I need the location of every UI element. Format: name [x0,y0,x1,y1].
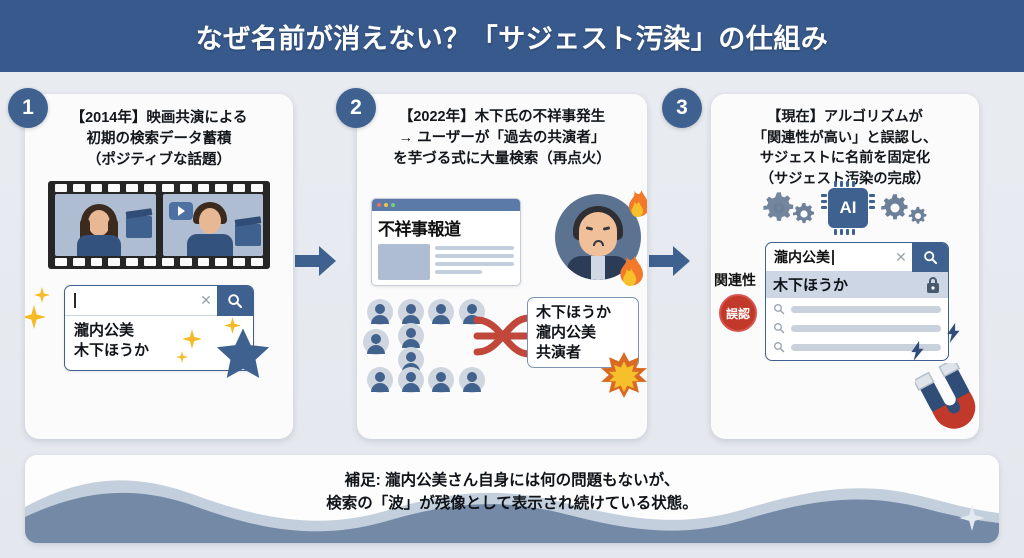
step-badge-2: 2 [336,88,376,128]
person-icon [367,299,393,325]
spark-bolt-icon [947,323,961,343]
person-icon [363,329,389,355]
lock-icon [925,276,941,294]
panel-3-title: 【現在】アルゴリズムが 「関連性が高い」と誤認し、 サジェストに名前を固定化 （… [711,94,979,189]
flame-icon [609,254,643,300]
person-icon [367,367,393,393]
explosion-icon [601,352,647,398]
arrow-step1-to-step2 [293,244,339,278]
person-icon [398,299,424,325]
locked-suggestion-text: 木下ほうか [773,274,848,295]
ai-chip-icon: AI [828,188,868,228]
user-icons-grid [367,299,485,393]
sparkle-icon [959,505,985,531]
clear-icon[interactable]: ✕ [195,292,217,309]
footer-note-card: 補足: 瀧内公美さん自身には何の問題もないが、 検索の「波」が残像として表示され… [25,455,999,543]
person-icon [398,323,424,349]
footer-note-text: 補足: 瀧内公美さん自身には何の問題もないが、 検索の「波」が残像として表示され… [25,469,999,516]
spark-bolt-icon [911,341,925,361]
panel-1-title: 【2014年】映画共演による 初期の検索データ蓄積 （ポジティブな話題） [25,94,293,171]
panel-2-title: 【2022年】木下氏の不祥事発生 → ユーザーが「過去の共演者」 を芋づる式に大… [357,94,647,170]
star-icon [210,323,276,387]
news-headline: 不祥事報道 [372,211,520,242]
placeholder-row[interactable] [773,303,941,315]
search-input-1[interactable] [65,293,195,308]
search-icon [773,322,785,334]
ai-chip-label: AI [840,198,857,218]
step-badge-1: 1 [8,88,48,128]
panel-step-2[interactable]: 【2022年】木下氏の不祥事発生 → ユーザーが「過去の共演者」 を芋づる式に大… [357,94,647,439]
panel-step-3[interactable]: 【現在】アルゴリズムが 「関連性が高い」と誤認し、 サジェストに名前を固定化 （… [711,94,979,439]
placeholder-row[interactable] [773,322,941,334]
ai-algorithm-graphic: AI [711,188,979,228]
panel-row: 【2014年】映画共演による 初期の検索データ蓄積 （ポジティブな話題） [0,88,1024,444]
search-icon[interactable] [217,286,253,316]
sparkle-icon [224,317,241,334]
misrecognition-badge: 誤認 [719,294,757,332]
person-icon [428,367,454,393]
page-title: なぜ名前が消えない？「サジェスト汚染」の仕組み [196,17,829,56]
panel-step-1[interactable]: 【2014年】映画共演による 初期の検索データ蓄積 （ポジティブな話題） [25,94,293,439]
search-input-3[interactable]: 瀧内公美 [766,247,890,267]
person-icon [428,299,454,325]
step-badge-3: 3 [662,88,702,128]
arrow-step2-to-step3 [647,244,693,278]
gear-icon [762,191,796,225]
name-item: 瀧内公美 [536,323,630,343]
text-caret [832,250,834,265]
clear-icon[interactable]: ✕ [890,249,912,266]
news-thumbnail [378,244,430,280]
sparkle-icon [182,329,202,349]
film-frame-actor [163,194,264,256]
text-caret [74,293,76,308]
news-card: 不祥事報道 [371,198,521,286]
gear-icon [792,202,816,226]
locked-suggestion-row[interactable]: 木下ほうか [766,271,948,298]
search-icon[interactable] [912,242,948,272]
window-titlebar [372,199,520,211]
news-text-lines [435,244,514,280]
relevance-label: 関連性 [714,270,756,290]
search-icon [773,341,785,353]
header-band: なぜ名前が消えない？「サジェスト汚染」の仕組み [0,0,1024,72]
sparkle-icon [25,305,46,329]
film-strip-icon [48,181,270,269]
search-input-3-value: 瀧内公美 [774,247,830,267]
film-frame-actress [55,194,156,256]
flame-icon [619,190,647,228]
sparkle-icon [176,351,188,363]
magnet-icon [915,363,979,433]
search-icon [773,303,785,315]
gear-icon [908,206,928,226]
sparkle-icon [34,287,50,303]
search-widget-1[interactable]: ✕ 瀧内公美 木下ほうか [64,285,254,371]
gear-icon [880,193,910,223]
name-item: 木下ほうか [536,303,630,323]
person-icon [398,367,424,393]
